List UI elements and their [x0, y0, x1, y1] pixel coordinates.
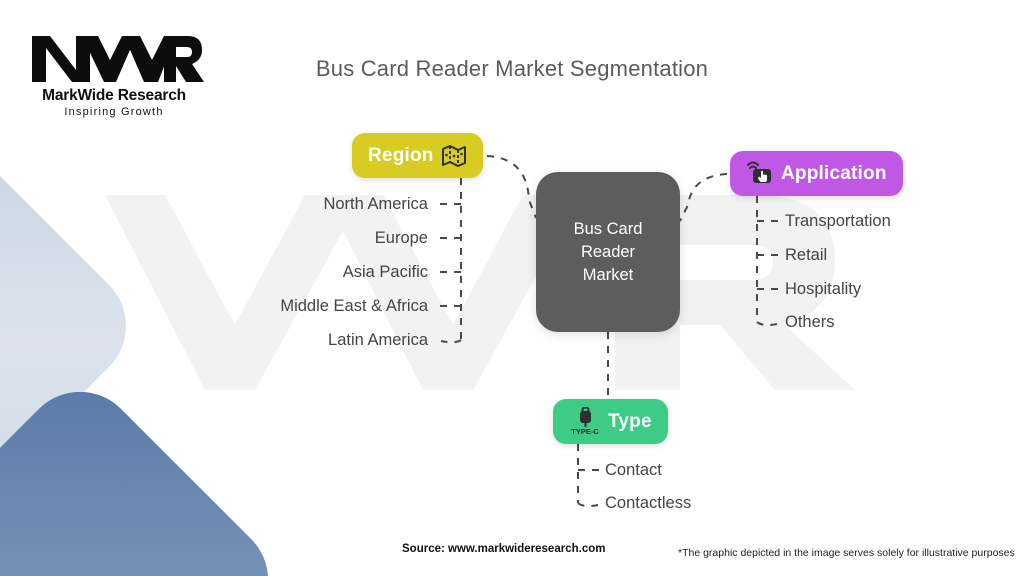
leaf-application-3: Others	[785, 313, 835, 332]
page-title: Bus Card Reader Market Segmentation	[0, 56, 1024, 82]
leaf-type-1: Contactless	[605, 494, 691, 513]
branch-badge-type[interactable]: TYPE-C Type	[553, 399, 668, 444]
leaf-region-1: Europe	[128, 229, 428, 248]
leaf-application-2: Hospitality	[785, 280, 861, 299]
source-text: Source: www.markwideresearch.com	[402, 543, 605, 555]
leaf-application-0: Transportation	[785, 212, 891, 231]
infographic-canvas: MarkWide Research Inspiring Growth Bus C…	[0, 0, 1024, 576]
center-node: Bus Card Reader Market	[536, 172, 680, 332]
svg-text:TYPE-C: TYPE-C	[571, 427, 599, 436]
background-shape-dark	[0, 368, 292, 576]
type-c-connector-icon: TYPE-C	[569, 407, 601, 437]
branch-badge-application[interactable]: Application	[730, 151, 903, 196]
leaf-region-4: Latin America	[128, 331, 428, 350]
background-shape-light	[0, 128, 150, 524]
brand-name: MarkWide Research	[24, 87, 204, 105]
disclaimer-text: *The graphic depicted in the image serve…	[678, 547, 1015, 559]
branch-badge-region-label: Region	[368, 145, 434, 167]
branch-badge-application-label: Application	[781, 163, 887, 185]
center-node-label: Bus Card Reader Market	[574, 218, 643, 287]
map-icon	[441, 144, 467, 168]
brand-tagline: Inspiring Growth	[24, 106, 204, 118]
branch-badge-type-label: Type	[608, 411, 652, 433]
branch-badge-region[interactable]: Region	[352, 133, 483, 178]
leaf-region-2: Asia Pacific	[128, 263, 428, 282]
leaf-type-0: Contact	[605, 461, 662, 480]
leaf-region-0: North America	[128, 195, 428, 214]
leaf-application-1: Retail	[785, 246, 827, 265]
leaf-region-3: Middle East & Africa	[128, 297, 428, 316]
contactless-tap-icon	[746, 161, 774, 187]
